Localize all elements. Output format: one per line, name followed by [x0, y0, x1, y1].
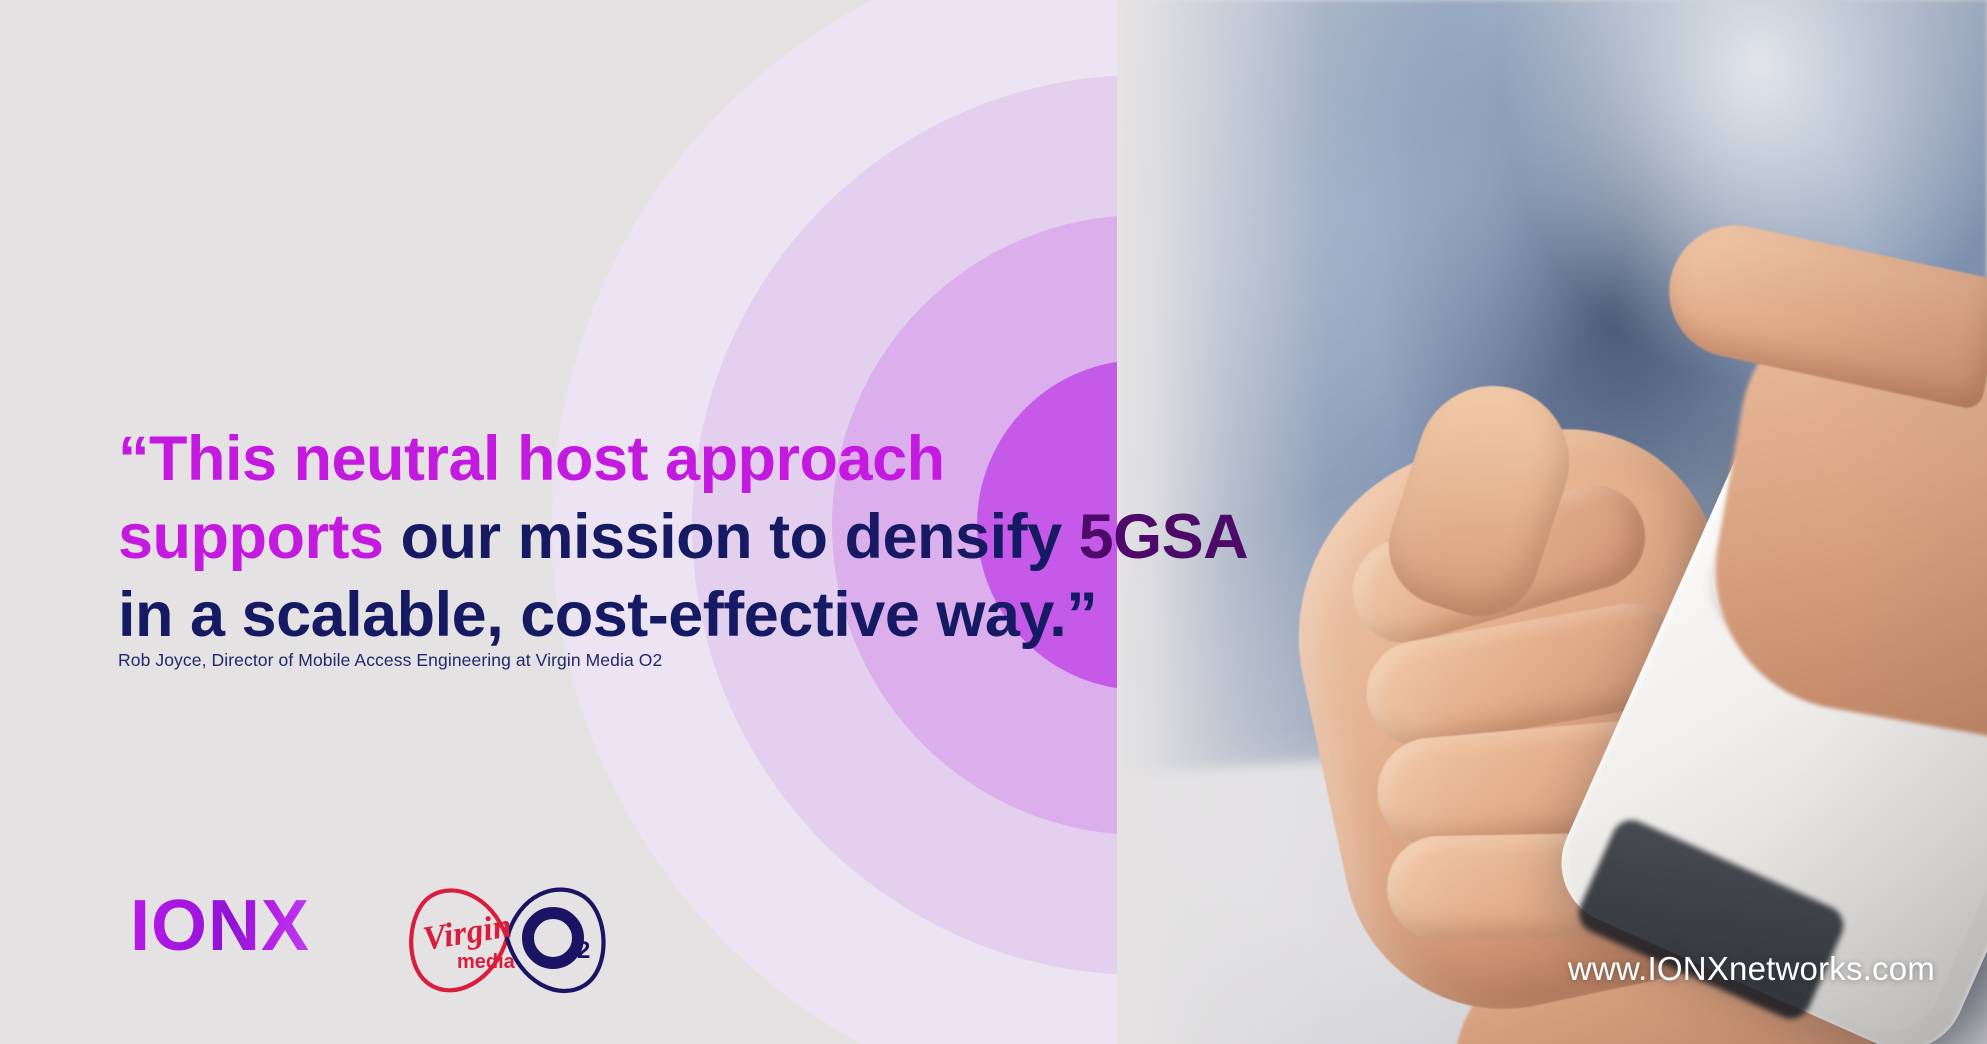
quote-line-3-text: in a scalable, cost-effective way.”: [118, 580, 1097, 650]
quote-line-1-text: “This neutral host approach: [118, 424, 945, 494]
o2-letter-o: [528, 913, 578, 963]
ionx-logo: IONX: [130, 890, 310, 962]
quote-attribution: Rob Joyce, Director of Mobile Access Eng…: [118, 650, 662, 671]
quote-line-2-text: our mission to densify: [384, 502, 1079, 572]
quote-line-2: supports our mission to densify 5GSA: [118, 498, 1298, 576]
media-wordmark: media: [457, 951, 516, 973]
quote-line-3: in a scalable, cost-effective way.”: [118, 576, 1298, 654]
promo-banner: “This neutral host approach supports our…: [0, 0, 1987, 1044]
virgin-media-o2-logo: Virgin media 2: [395, 868, 625, 1008]
quote-line-1: “This neutral host approach: [118, 420, 1298, 498]
quote-accent-supports: supports: [118, 502, 384, 572]
website-url: www.IONXnetworks.com: [1568, 950, 1935, 988]
pull-quote: “This neutral host approach supports our…: [118, 420, 1298, 654]
quote-highlight-5gsa: 5GSA: [1079, 502, 1249, 572]
o2-subscript-2: 2: [577, 937, 590, 964]
